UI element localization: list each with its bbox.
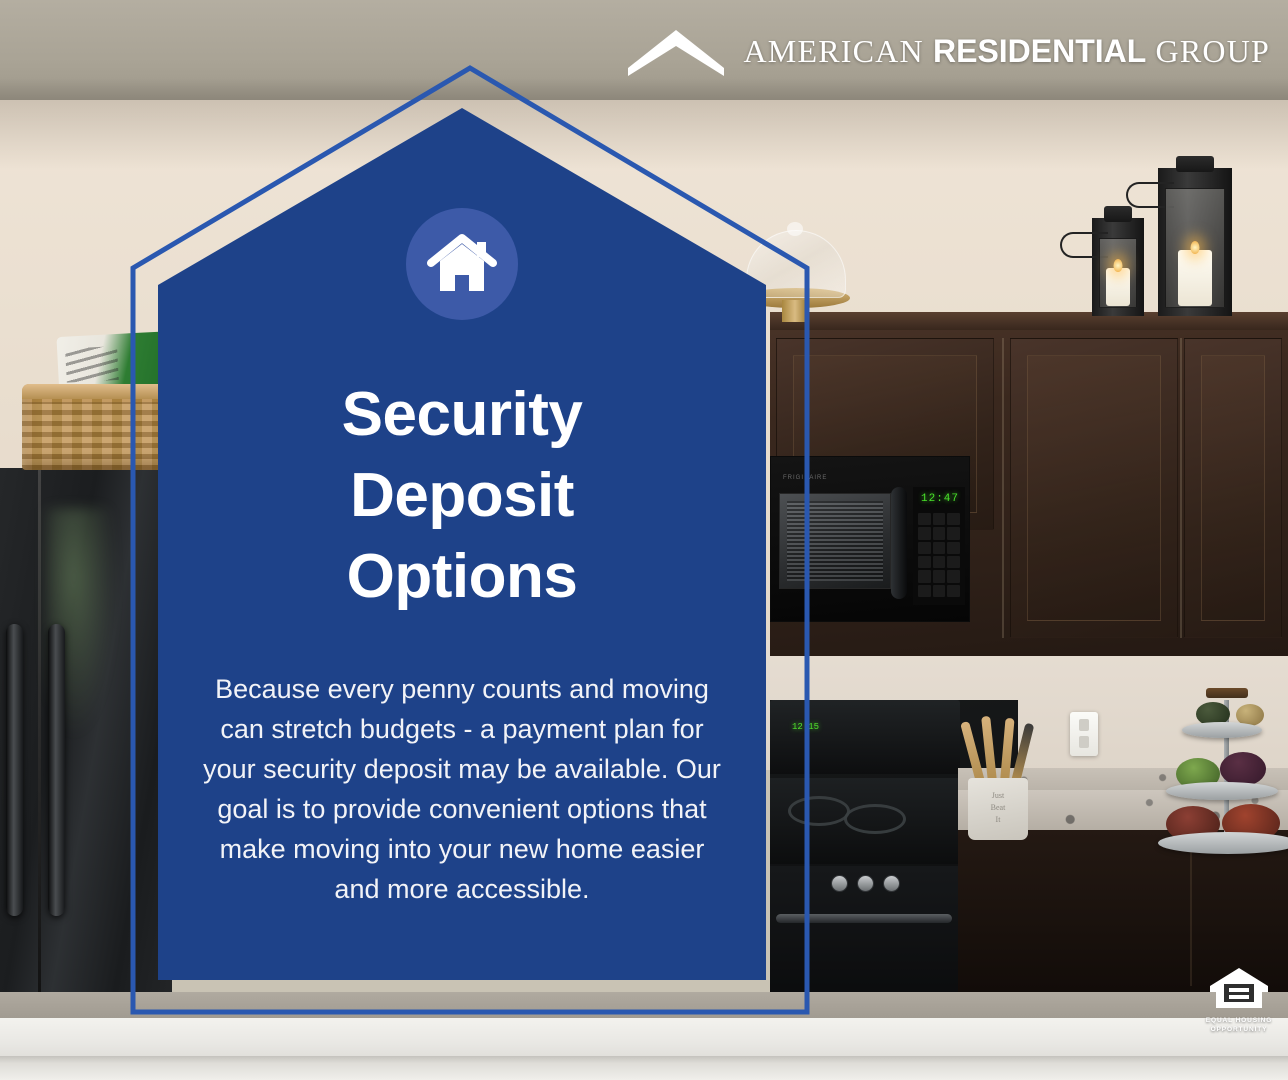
blue-house-panel: Security Deposit Options Because every p… (158, 108, 766, 980)
brand-name: AMERICAN RESIDENTIAL GROUP (744, 33, 1271, 70)
microwave: FRIGIDAIRE 12:47 (770, 456, 970, 622)
cabinet-door (1010, 338, 1178, 638)
microwave-handle (891, 487, 907, 599)
tray-tier-middle (1166, 782, 1278, 800)
oven-handle (776, 914, 952, 923)
utensil-crock: Just Beat It (968, 778, 1028, 840)
page-title: Security Deposit Options (202, 374, 722, 617)
candle (1178, 250, 1212, 306)
range-knob (884, 876, 899, 891)
produce-item (1220, 752, 1266, 786)
refrigerator-handle-right (48, 624, 65, 916)
microwave-keypad (918, 513, 960, 597)
brand-name-part2: RESIDENTIAL (933, 33, 1146, 69)
tray-tier-bottom (1158, 832, 1288, 854)
lower-cabinet-seam (1190, 846, 1192, 986)
cabinet-seam (1180, 338, 1182, 638)
eho-label-line2: OPPORTUNITY (1200, 1026, 1278, 1035)
lantern-small (1092, 218, 1144, 316)
tray-tier-top (1182, 722, 1262, 738)
lantern-cap (1176, 156, 1214, 172)
tray-handle (1206, 688, 1248, 698)
microwave-clock-display: 12:47 (921, 493, 959, 505)
chevron-roof-icon (626, 26, 726, 76)
equal-housing-opportunity-logo: EQUAL HOUSING OPPORTUNITY (1200, 966, 1278, 1034)
microwave-control-panel: 12:47 (913, 487, 965, 605)
woven-basket (22, 384, 172, 470)
wooden-utensils (974, 718, 1026, 782)
crock-label-line2: Beat (968, 802, 1028, 813)
microwave-brand-label: FRIGIDAIRE (783, 475, 827, 481)
refrigerator-handle-left (6, 624, 23, 916)
crock-label-line3: It (968, 814, 1028, 825)
range-knob (858, 876, 873, 891)
lantern-large (1158, 168, 1232, 316)
lantern-cap (1104, 206, 1131, 222)
home-icon-badge (406, 208, 518, 320)
cake-stand-stem (782, 300, 808, 322)
refrigerator (0, 468, 172, 1008)
utensil (981, 716, 997, 783)
candle-flame (1114, 259, 1123, 272)
brand-name-part1: AMERICAN (744, 33, 933, 69)
headline-line-3: Options (347, 542, 578, 611)
white-ledge (0, 1018, 1288, 1080)
range-clock-display: 12:15 (792, 722, 819, 732)
headline-line-1: Security (342, 380, 583, 449)
marketing-graphic: FRIGIDAIRE 12:47 12:15 (0, 0, 1288, 1080)
burner-grate (788, 796, 850, 826)
brand-logo: AMERICAN RESIDENTIAL GROUP (626, 26, 1271, 76)
glass-dome-knob (787, 222, 803, 236)
crock-label-line1: Just (968, 790, 1028, 801)
microwave-window (779, 493, 891, 589)
wall-outlet (1070, 712, 1098, 756)
body-paragraph: Because every penny counts and moving ca… (202, 669, 722, 909)
wall-shadow (0, 100, 1288, 170)
range-backguard: 12:15 (770, 700, 960, 774)
cabinet-door (1184, 338, 1282, 638)
home-icon (427, 233, 497, 295)
burner-grate (844, 804, 906, 834)
brand-name-part3: GROUP (1146, 33, 1270, 69)
headline-line-2: Deposit (350, 461, 574, 530)
eho-label-line1: EQUAL HOUSING (1200, 1017, 1278, 1026)
equal-housing-opportunity-icon (1208, 966, 1270, 1010)
candle-flame (1191, 241, 1200, 254)
cabinet-seam (1002, 338, 1004, 638)
range-knob (832, 876, 847, 891)
candle (1106, 268, 1130, 306)
eho-label: EQUAL HOUSING OPPORTUNITY (1200, 1017, 1278, 1034)
